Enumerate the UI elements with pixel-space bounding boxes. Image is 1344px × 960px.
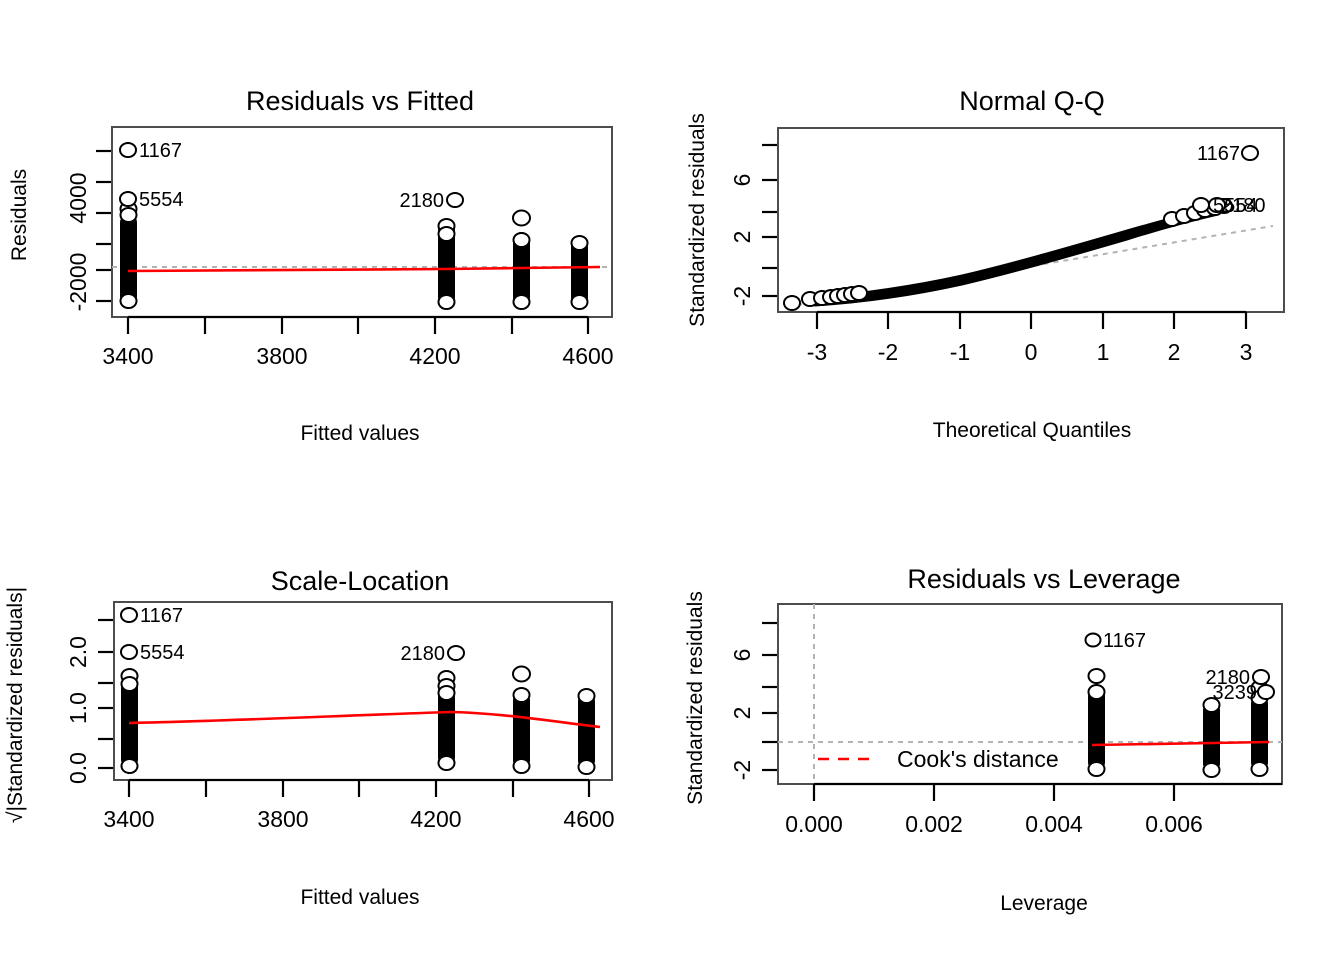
y-axis-label: √|Standardized residuals| [4, 587, 27, 823]
data-points-cluster-2 [1203, 698, 1220, 777]
outlier-label: 2180 [1221, 195, 1266, 217]
y-tick-label: -2 [729, 286, 755, 306]
panel-title: Residuals vs Fitted [246, 86, 474, 116]
y-axis-ticks [762, 623, 778, 770]
data-points-cluster-3 [513, 667, 530, 774]
y-axis-label: Standardized residuals [684, 591, 707, 805]
data-points-cluster-4 [571, 236, 588, 309]
x-tick-label: 4600 [563, 806, 614, 832]
x-tick-label: 0.006 [1145, 811, 1203, 837]
outlier-annotation-5554: 5554 [121, 642, 185, 664]
panel-title: Normal Q-Q [959, 86, 1105, 116]
x-tick-label: 2 [1168, 339, 1181, 365]
y-axis-label: Standardized residuals [686, 113, 709, 327]
outlier-label: 1167 [1197, 143, 1240, 165]
qq-lower-tail-points [784, 286, 867, 310]
x-tick-label: -1 [950, 339, 970, 365]
x-tick-label: 0.002 [905, 811, 963, 837]
outlier-label: 1167 [140, 605, 183, 627]
x-tick-label: 3 [1240, 339, 1253, 365]
y-tick-label: 1.0 [65, 692, 91, 724]
y-tick-label: 6 [729, 174, 755, 187]
x-tick-label: 3400 [102, 343, 153, 369]
x-axis-label: Fitted values [300, 886, 419, 909]
x-tick-label: 0 [1025, 339, 1038, 365]
data-points-cluster-2 [438, 219, 455, 309]
plot-frame [112, 127, 612, 317]
data-points-cluster-2 [438, 671, 455, 770]
outlier-annotation-1167: 1167 [1086, 630, 1147, 652]
outlier-annotation-2180: 2180 [401, 643, 465, 665]
x-tick-label: 3800 [257, 806, 308, 832]
x-tick-label: 4600 [562, 343, 613, 369]
outlier-label: 1167 [139, 140, 182, 162]
outlier-annotation-1167: 1167 [121, 605, 183, 627]
x-tick-label: -3 [807, 339, 827, 365]
x-tick-label: 3800 [256, 343, 307, 369]
cooks-distance-legend-label: Cook's distance [897, 746, 1059, 772]
y-tick-label: 6 [729, 649, 755, 662]
x-tick-label: 4200 [409, 343, 460, 369]
outlier-label: 5554 [139, 189, 184, 211]
y-axis-ticks [762, 145, 778, 296]
y-tick-label: 2.0 [65, 636, 91, 668]
data-points-cluster-4 [578, 689, 595, 774]
x-tick-label: -2 [878, 339, 898, 365]
x-axis-label: Theoretical Quantiles [933, 419, 1131, 442]
x-tick-label: 3400 [103, 806, 154, 832]
x-axis-ticks [817, 312, 1246, 329]
outlier-annotation-1167: 1167 [120, 140, 182, 162]
panel-title: Residuals vs Leverage [907, 564, 1180, 594]
diagnostic-plot-grid: Residuals vs Fitted Residuals 4000 -2000 [0, 0, 1344, 960]
outlier-label: 3239 [1213, 682, 1258, 704]
outlier-label: 5554 [140, 642, 185, 664]
y-tick-label: 2 [729, 707, 755, 720]
y-axis-ticks [98, 620, 114, 768]
qq-point-band [815, 206, 1218, 306]
x-axis-label: Leverage [1000, 892, 1088, 915]
outlier-label: 2180 [400, 190, 445, 212]
y-tick-label: 0.0 [65, 752, 91, 784]
data-points-cluster-1 [1088, 669, 1105, 776]
panel-residuals-vs-fitted: Residuals vs Fitted Residuals 4000 -2000 [0, 0, 672, 480]
panel-scale-location: Scale-Location √|Standardized residuals|… [0, 480, 672, 960]
x-axis-label: Fitted values [300, 422, 419, 445]
data-points-cluster-1 [121, 669, 138, 773]
cooks-distance-legend: Cook's distance [818, 746, 1059, 772]
x-tick-label: 1 [1097, 339, 1110, 365]
plot-frame [114, 602, 612, 780]
outlier-label: 1167 [1103, 630, 1146, 652]
y-tick-label: 2 [729, 231, 755, 244]
outlier-annotation-2180: 2180 [400, 190, 464, 212]
y-axis-label: Residuals [8, 169, 31, 261]
panel-normal-qq: Normal Q-Q Standardized residuals 6 2 -2 [672, 0, 1344, 480]
x-tick-label: 0.000 [785, 811, 843, 837]
x-axis-ticks [128, 317, 588, 334]
outlier-label: 2180 [401, 643, 446, 665]
y-tick-label: -2 [729, 760, 755, 780]
y-axis-ticks [96, 151, 112, 301]
outlier-annotation-1167: 1167 [1197, 143, 1258, 165]
x-axis-ticks [814, 784, 1282, 801]
panel-residuals-vs-leverage: Residuals vs Leverage Standardized resid… [672, 480, 1344, 960]
y-tick-label: 4000 [65, 172, 91, 223]
y-tick-label: -2000 [65, 253, 91, 312]
data-points-cluster-1 [120, 202, 137, 308]
x-tick-label: 0.004 [1025, 811, 1083, 837]
x-tick-label: 4200 [410, 806, 461, 832]
data-points-cluster-3 [513, 211, 530, 310]
x-axis-ticks [129, 780, 589, 797]
panel-title: Scale-Location [271, 566, 450, 596]
